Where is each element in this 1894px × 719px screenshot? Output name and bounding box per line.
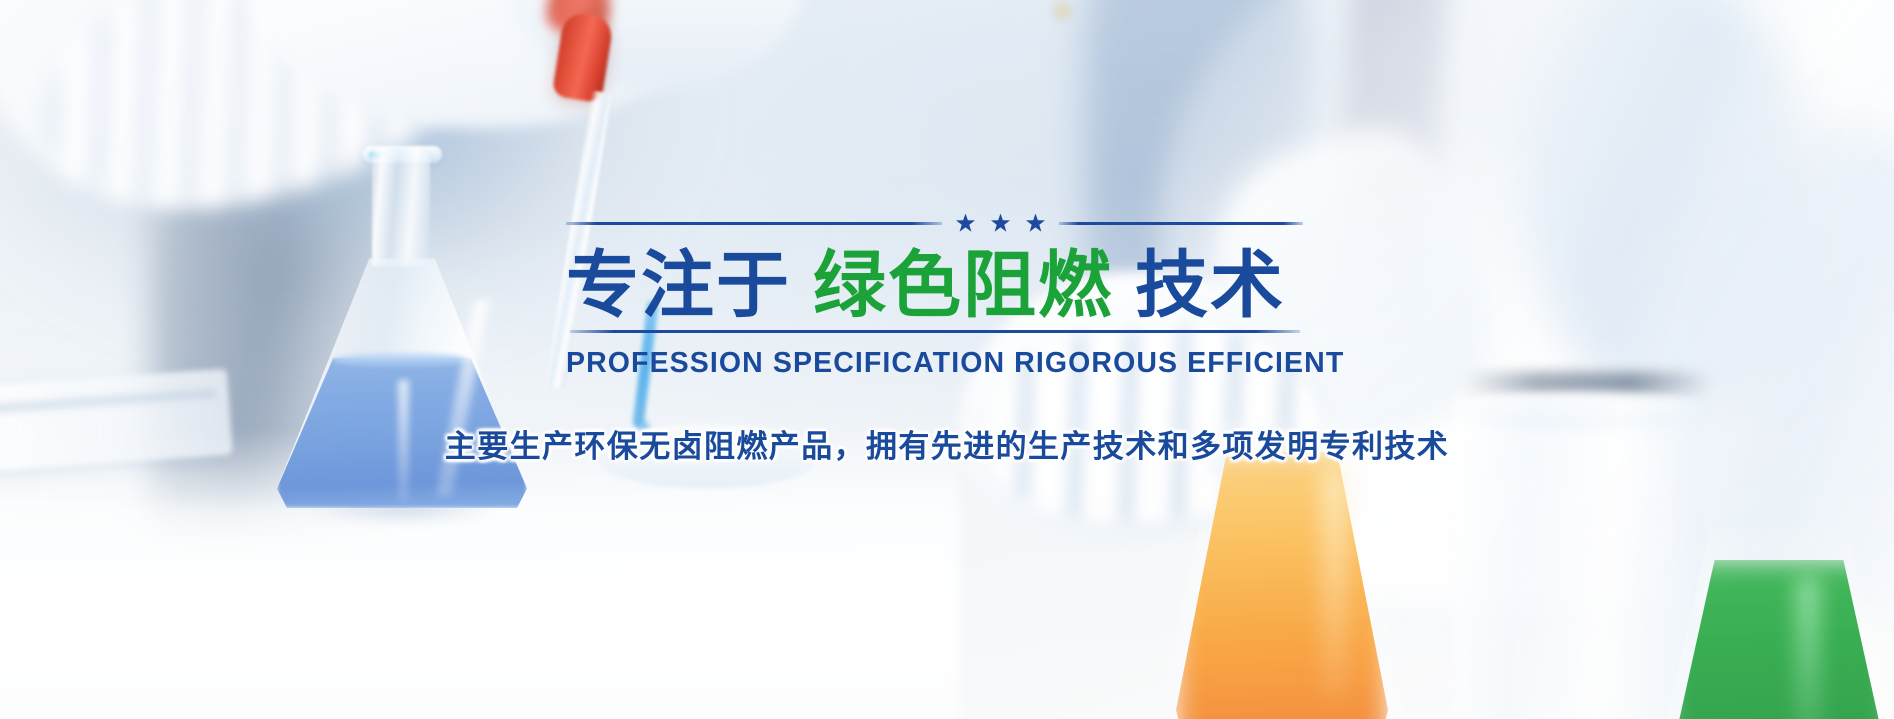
- decorative-rule-bottom: [570, 330, 1300, 333]
- star-icon: [956, 214, 975, 233]
- hero-banner: 专注于 绿色阻燃 技术 PROFESSION SPECIFICATION RIG…: [0, 0, 1894, 719]
- star-icon: [1026, 214, 1045, 233]
- star-icon: [991, 214, 1010, 233]
- decorative-rule-left: [566, 222, 942, 225]
- banner-subtitle-english: PROFESSION SPECIFICATION RIGOROUS EFFICI…: [566, 344, 1306, 382]
- headline-part-1: 专注于: [566, 243, 791, 329]
- star-group: [942, 214, 1059, 233]
- banner-headline: 专注于 绿色阻燃 技术: [566, 243, 1306, 329]
- decorative-rule-with-stars: [566, 214, 1318, 232]
- headline-part-2: 绿色阻燃: [813, 243, 1113, 329]
- headline-part-3: 技术: [1135, 243, 1285, 329]
- decorative-rule-right: [1059, 222, 1303, 225]
- banner-tagline-chinese: 主要生产环保无卤阻燃产品，拥有先进的生产技术和多项发明专利技术: [0, 424, 1894, 470]
- banner-text-overlay: 专注于 绿色阻燃 技术 PROFESSION SPECIFICATION RIG…: [0, 0, 1894, 719]
